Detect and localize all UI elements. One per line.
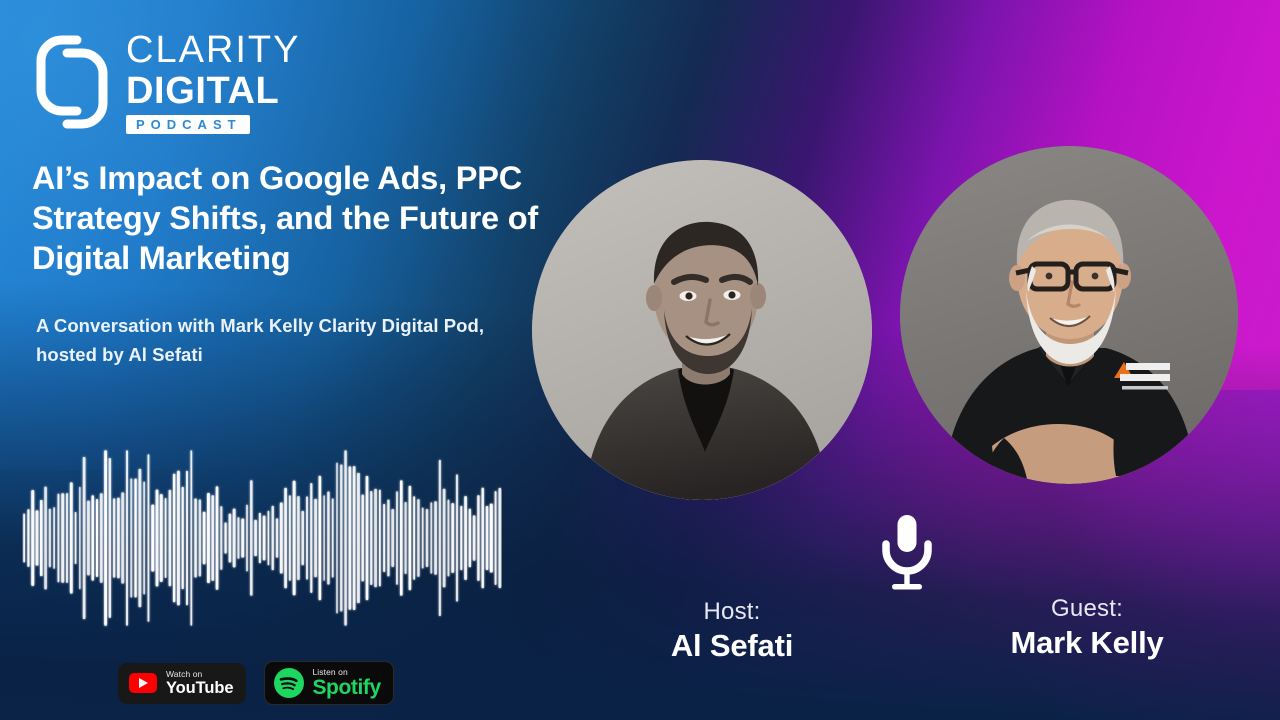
spotify-icon	[273, 667, 305, 699]
logo-word-digital: DIGITAL	[126, 72, 300, 110]
podcast-cover: CLARITY DIGITAL PODCAST AI’s Impact on G…	[0, 0, 1280, 720]
host-role-label: Host:	[612, 598, 852, 626]
brand-logo[interactable]: CLARITY DIGITAL PODCAST	[32, 28, 300, 136]
spotify-badge-label: Spotify	[312, 677, 380, 698]
logo-word-clarity: CLARITY	[126, 31, 300, 69]
episode-subtitle: A Conversation with Mark Kelly Clarity D…	[36, 312, 506, 369]
host-nameplate: Host: Al Sefati	[612, 598, 852, 665]
guest-portrait	[900, 146, 1238, 484]
spotify-badge[interactable]: Listen on Spotify	[264, 661, 393, 705]
logo-word-podcast: PODCAST	[136, 118, 242, 131]
youtube-icon	[129, 673, 157, 693]
youtube-badge-small-label: Watch on	[166, 670, 233, 679]
youtube-badge-label: YouTube	[166, 680, 233, 697]
microphone-icon	[876, 513, 938, 591]
host-portrait	[532, 160, 872, 500]
episode-title: AI’s Impact on Google Ads, PPC Strategy …	[32, 158, 592, 278]
host-name: Al Sefati	[612, 627, 852, 665]
host-portrait-image	[532, 160, 872, 500]
logo-podcast-bar: PODCAST	[126, 115, 250, 134]
linked-c-podcast-mark-icon	[32, 28, 112, 136]
spotify-badge-small-label: Listen on	[312, 668, 380, 677]
audio-waveform	[22, 448, 502, 628]
youtube-badge[interactable]: Watch on YouTube	[118, 663, 246, 704]
guest-portrait-image	[900, 146, 1238, 484]
guest-nameplate: Guest: Mark Kelly	[968, 595, 1206, 662]
platform-badges: Watch on YouTube Listen on Spotify	[118, 661, 394, 705]
guest-role-label: Guest:	[968, 595, 1206, 623]
guest-name: Mark Kelly	[968, 624, 1206, 662]
